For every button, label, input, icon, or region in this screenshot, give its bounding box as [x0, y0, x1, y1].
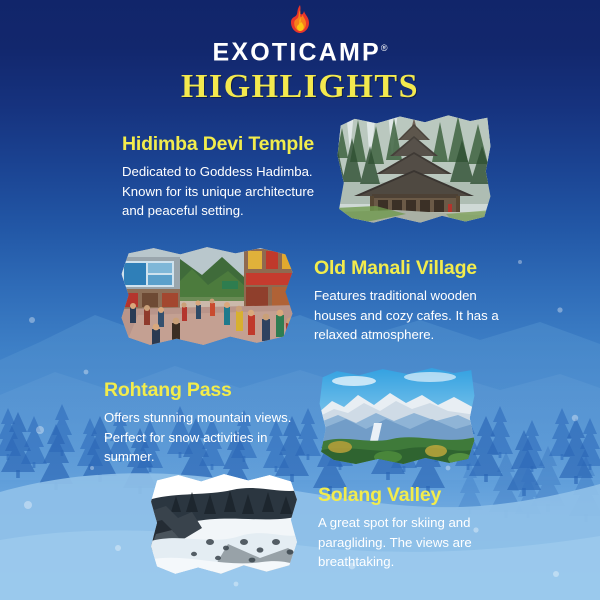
poster-header: EXOTICAMP®: [0, 0, 600, 65]
highlight-description-3: Offers stunning mountain views. Perfect …: [104, 408, 309, 466]
highlight-text-2: Old Manali Village Features traditional …: [314, 258, 519, 345]
highlight-title-1: Hidimba Devi Temple: [122, 134, 327, 155]
highlights-poster: EXOTICAMP® HIGHLIGHTS Hidimba Devi Templ…: [0, 0, 600, 600]
registered-mark: ®: [381, 43, 388, 53]
highlight-title-2: Old Manali Village: [314, 258, 519, 279]
highlight-text-3: Rohtang Pass Offers stunning mountain vi…: [104, 380, 309, 467]
highlight-description-1: Dedicated to Goddess Hadimba. Known for …: [122, 162, 327, 220]
highlight-title-3: Rohtang Pass: [104, 380, 309, 401]
highlight-image-2: [118, 245, 296, 349]
highlight-description-2: Features traditional wooden houses and c…: [314, 286, 519, 344]
brand-name: EXOTICAMP®: [212, 16, 387, 74]
brand-name-after-x: OTICAMP: [250, 38, 381, 66]
brand-logo: EXOTICAMP®: [212, 16, 387, 60]
page-title: HIGHLIGHTS: [0, 68, 600, 106]
highlight-image-1: [336, 112, 492, 226]
highlight-image-4: [148, 472, 300, 578]
highlight-image-3: [318, 365, 476, 467]
highlight-title-4: Solang Valley: [318, 485, 523, 506]
highlight-text-1: Hidimba Devi Temple Dedicated to Goddess…: [122, 134, 327, 221]
highlight-description-4: A great spot for skiing and paragliding.…: [318, 513, 523, 571]
highlight-text-4: Solang Valley A great spot for skiing an…: [318, 485, 523, 572]
brand-name-before-x: E: [212, 38, 231, 66]
